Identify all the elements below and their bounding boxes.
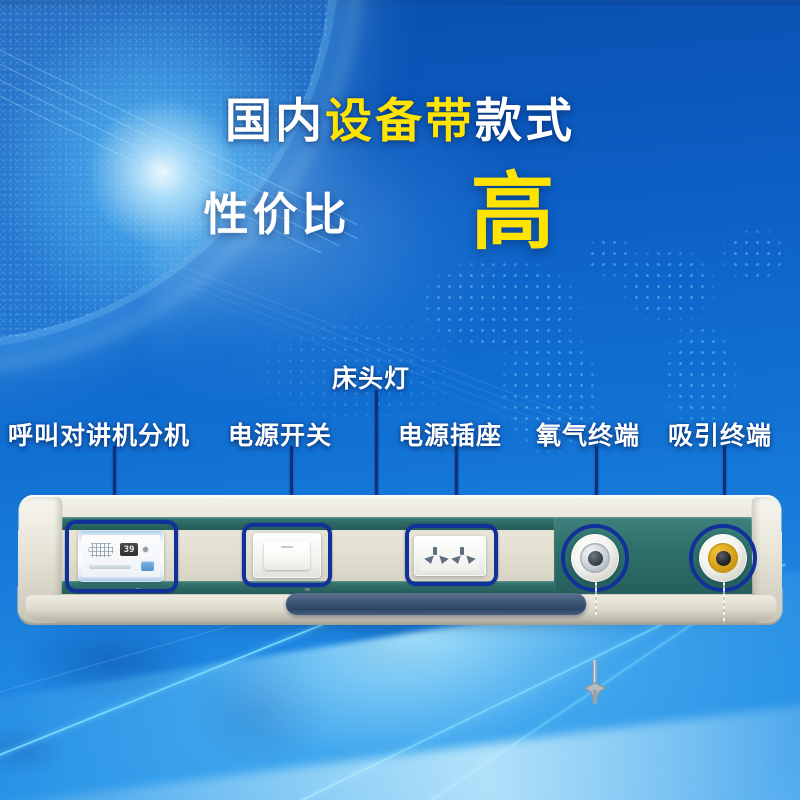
- panel-slide-rail: [286, 593, 586, 615]
- callout-label-power-socket: 电源插座: [398, 416, 502, 452]
- callout-label-bed-lamp: 床头灯: [332, 359, 410, 395]
- callout-label-power-switch: 电源开关: [228, 416, 332, 452]
- headline-part-1: 国内: [225, 94, 325, 147]
- highlight-box-intercom: [65, 520, 178, 593]
- oxygen-outlet-cord: [595, 582, 597, 618]
- subheadline-text: 性价比: [203, 178, 350, 243]
- subheadline: 性价比高: [0, 168, 800, 252]
- hook-svg: [580, 660, 610, 710]
- highlight-box-power-switch: [242, 523, 332, 587]
- callout-label-suction-outlet: 吸引终端: [668, 416, 772, 452]
- subheadline-emphasis: 高: [471, 170, 555, 254]
- headline-part-3: 款式: [475, 94, 575, 147]
- headline-part-2-highlight: 设备带: [325, 94, 475, 147]
- suction-outlet-cord: [723, 582, 725, 624]
- hanging-hook-icon: [580, 660, 610, 715]
- callout-label-intercom: 呼叫对讲机分机: [8, 416, 190, 452]
- callout-label-oxygen-outlet: 氧气终端: [536, 416, 640, 452]
- headline: 国内设备带款式: [0, 82, 800, 151]
- highlight-box-power-socket: [405, 524, 498, 586]
- promo-banner: 国内设备带款式 性价比高 呼叫对讲机分机 电源开关 床头灯 电源插座 氧气终端 …: [0, 0, 800, 800]
- panel-screw-mid: [305, 588, 310, 591]
